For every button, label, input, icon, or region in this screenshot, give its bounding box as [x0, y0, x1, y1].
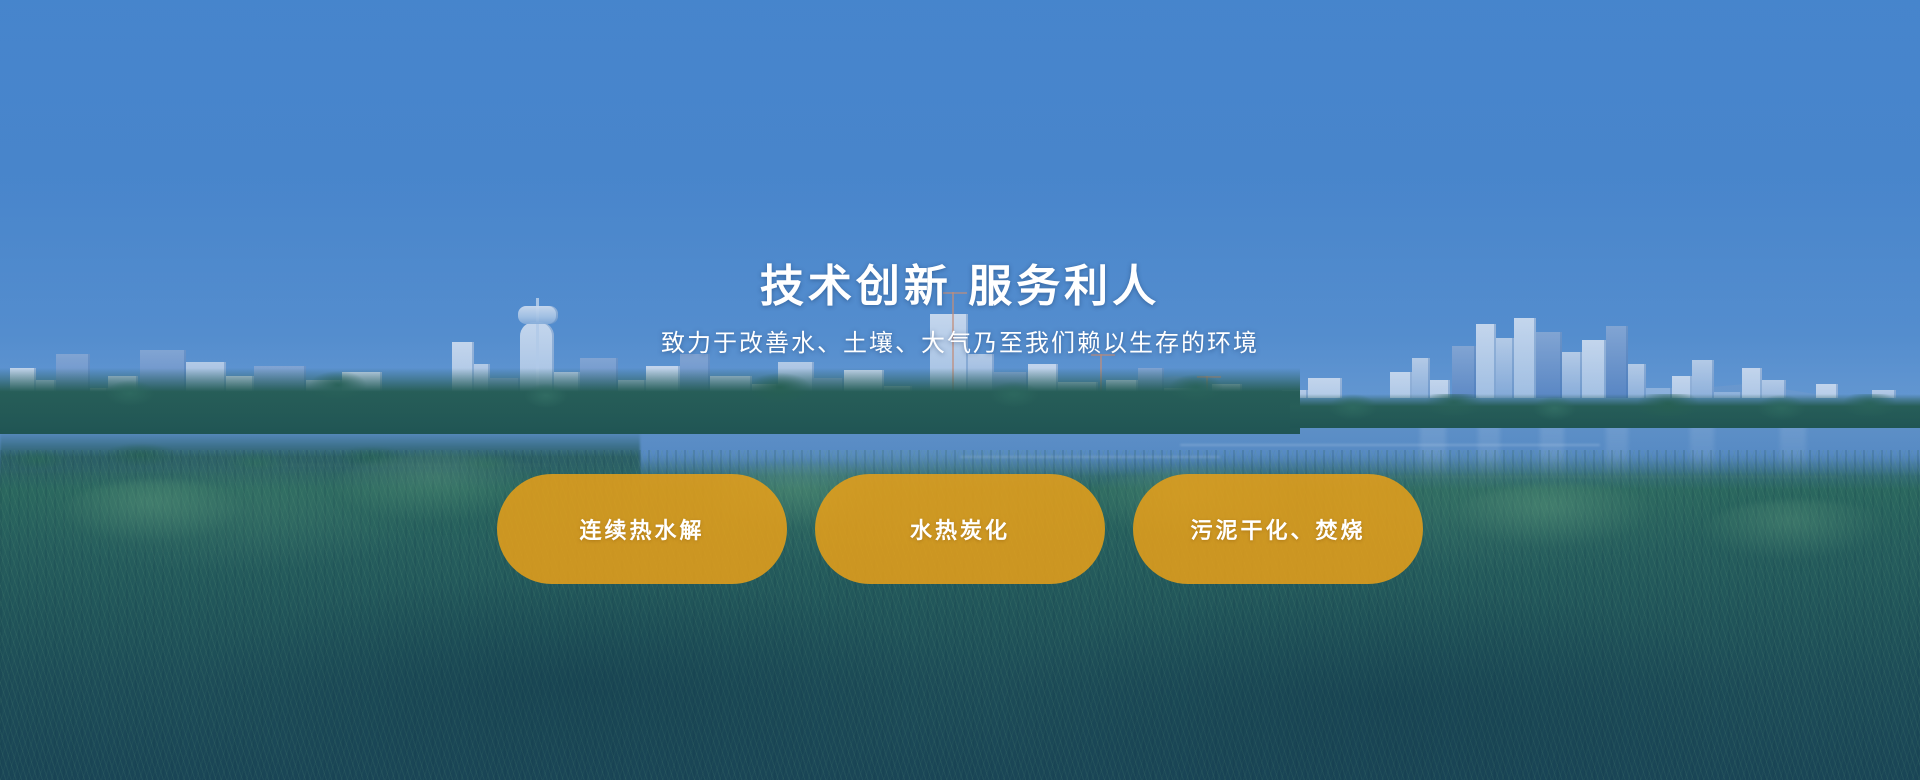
- hero-button-hydrothermal-carbonization[interactable]: 水热炭化: [815, 474, 1105, 584]
- hero-button-continuous-thermal-hydrolysis[interactable]: 连续热水解: [497, 474, 787, 584]
- hero-button-sludge-drying-incineration[interactable]: 污泥干化、焚烧: [1133, 474, 1423, 584]
- hero-banner: 技术创新 服务利人 致力于改善水、土壤、大气乃至我们赖以生存的环境 连续热水解 …: [0, 0, 1920, 780]
- far-bank-treeline: [0, 368, 1300, 434]
- hero-button-row: 连续热水解 水热炭化 污泥干化、焚烧: [0, 474, 1920, 584]
- page-title: 技术创新 服务利人: [0, 258, 1920, 316]
- right-bank-treeline: [1290, 394, 1920, 428]
- page-subtitle: 致力于改善水、土壤、大气乃至我们赖以生存的环境: [0, 326, 1920, 362]
- hero-copy-block: 技术创新 服务利人 致力于改善水、土壤、大气乃至我们赖以生存的环境: [0, 258, 1920, 362]
